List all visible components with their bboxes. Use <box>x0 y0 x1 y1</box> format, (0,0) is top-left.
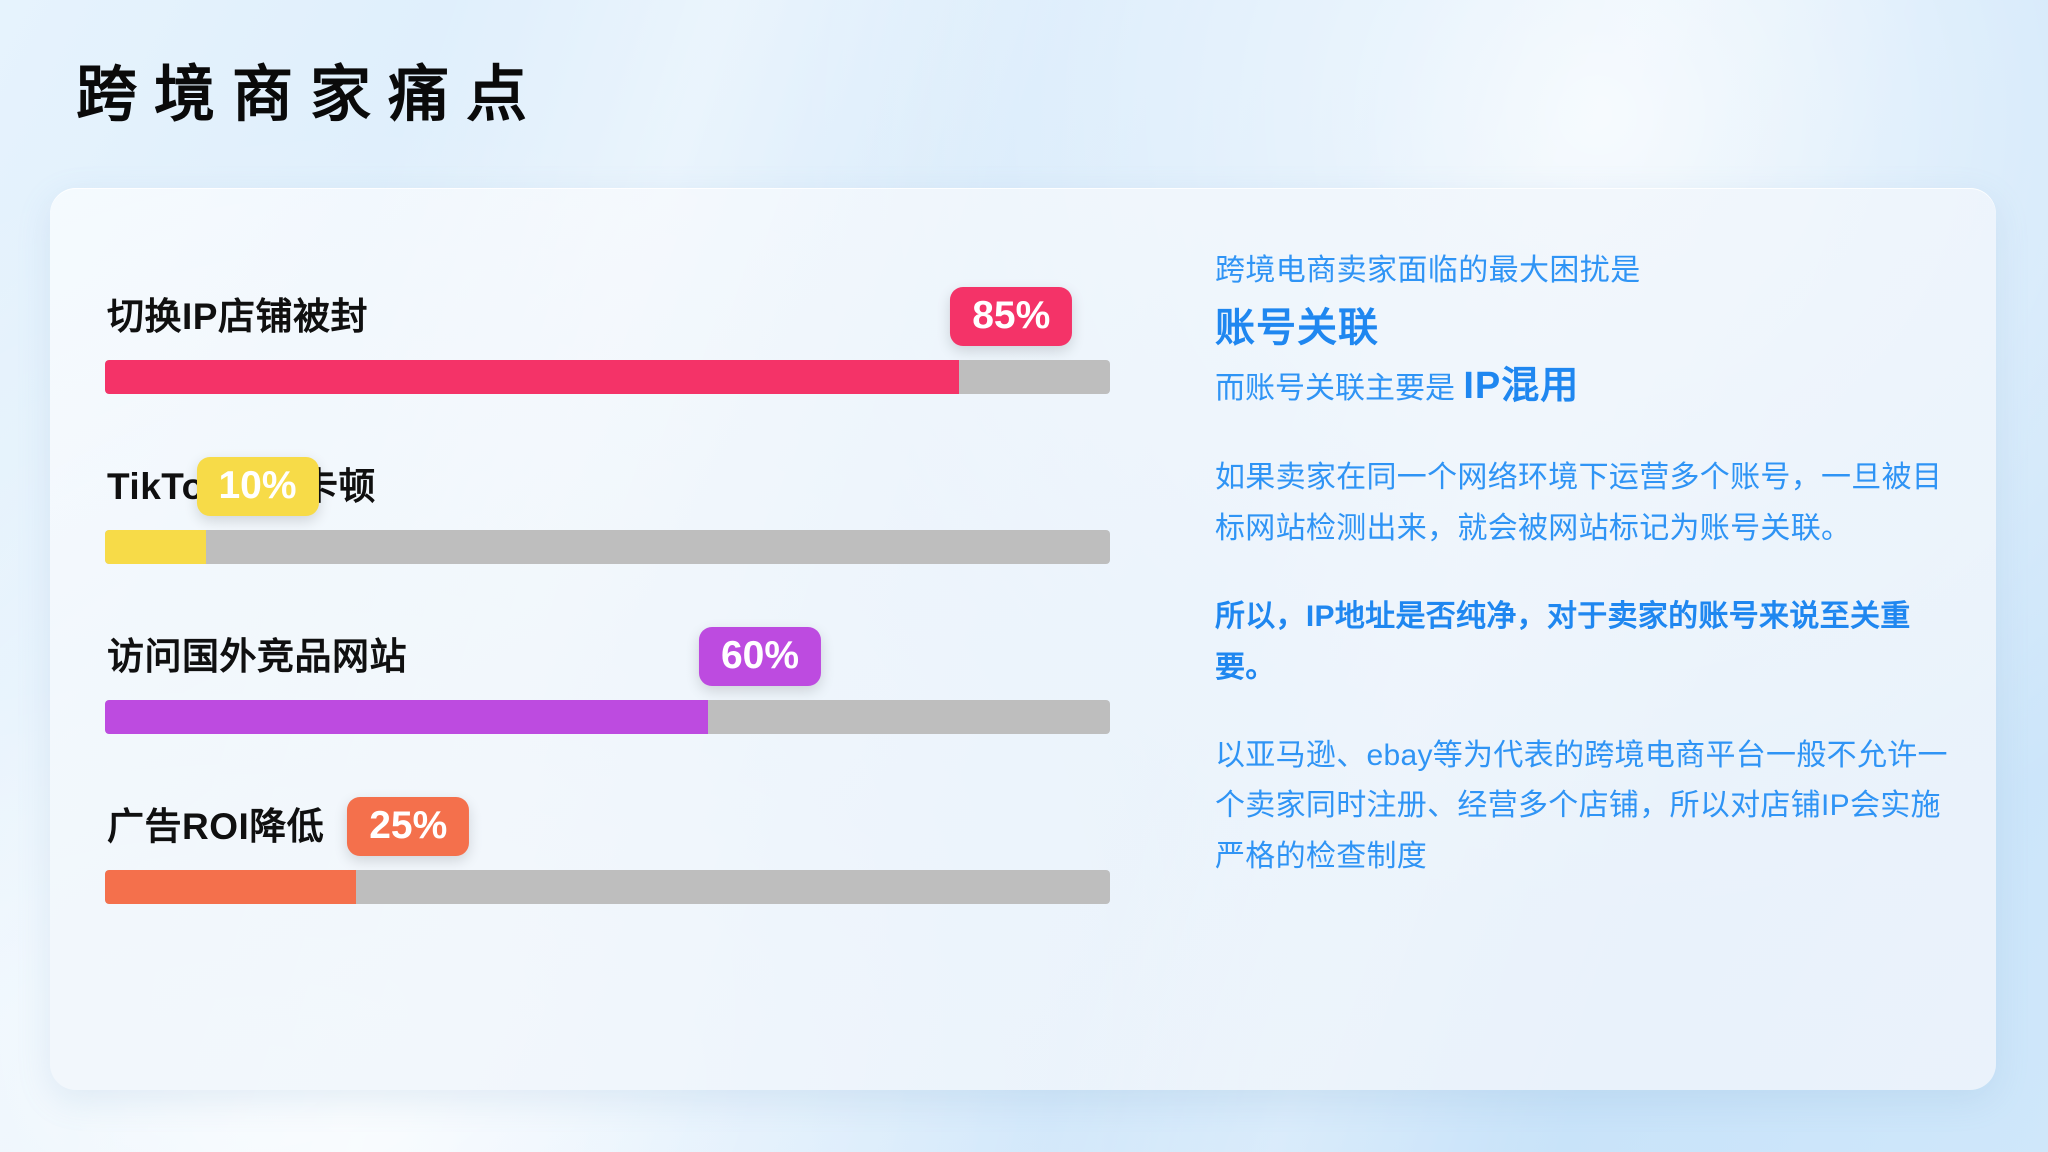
info-headline: 账号关联 <box>1215 300 1960 356</box>
info-paragraph-3: 以亚马逊、ebay等为代表的跨境电商平台一般不允许一个卖家同时注册、经营多个店铺… <box>1215 731 1960 882</box>
bar-row: 访问国外竞品网站 60% <box>105 600 1160 770</box>
bar-track <box>105 870 1110 904</box>
info-panel: 跨境电商卖家面临的最大困扰是 账号关联 而账号关联主要是 IP混用 如果卖家在同… <box>1215 248 1960 882</box>
bar-value-badge: 60% <box>699 627 821 686</box>
pain-point-bar-chart: 切换IP店铺被封 85% TikTok直播卡顿 10% 访问国外竞品网站 <box>105 260 1160 940</box>
bar-track <box>105 700 1110 734</box>
bar-label: 广告ROI降低 <box>107 796 324 850</box>
page-title: 跨境商家痛点 <box>76 62 544 128</box>
content-card: 切换IP店铺被封 85% TikTok直播卡顿 10% 访问国外竞品网站 <box>50 188 1996 1090</box>
bar-row-header: 访问国外竞品网站 60% <box>105 600 1160 686</box>
bar-row: 切换IP店铺被封 85% <box>105 260 1160 430</box>
info-subline-emphasis: IP混用 <box>1463 365 1579 407</box>
bar-track <box>105 530 1110 564</box>
bar-value-badge: 25% <box>347 797 469 856</box>
bar-fill <box>105 530 206 564</box>
bar-row-header: TikTok直播卡顿 10% <box>105 430 1160 516</box>
bar-label: 切换IP店铺被封 <box>107 286 368 340</box>
info-subline-prefix: 而账号关联主要是 <box>1215 372 1463 405</box>
bar-fill <box>105 700 708 734</box>
bar-row: 广告ROI降低 25% <box>105 770 1160 940</box>
info-lead-line: 跨境电商卖家面临的最大困扰是 <box>1215 248 1960 294</box>
bar-row-header: 切换IP店铺被封 85% <box>105 260 1160 346</box>
bar-fill <box>105 360 959 394</box>
bar-label: 访问国外竞品网站 <box>107 626 407 680</box>
bar-value-badge: 85% <box>950 287 1072 346</box>
bar-value-badge: 10% <box>196 457 318 516</box>
bar-track <box>105 360 1110 394</box>
info-paragraph-1: 如果卖家在同一个网络环境下运营多个账号，一旦被目标网站检测出来，就会被网站标记为… <box>1215 453 1960 554</box>
bar-row-header: 广告ROI降低 25% <box>105 770 1160 856</box>
info-subline: 而账号关联主要是 IP混用 <box>1215 358 1960 416</box>
bar-row: TikTok直播卡顿 10% <box>105 430 1160 600</box>
bar-fill <box>105 870 356 904</box>
slide-canvas: 跨境商家痛点 切换IP店铺被封 85% TikTok直播卡顿 10% <box>0 0 2048 1152</box>
info-paragraph-2: 所以，IP地址是否纯净，对于卖家的账号来说至关重要。 <box>1215 592 1960 693</box>
